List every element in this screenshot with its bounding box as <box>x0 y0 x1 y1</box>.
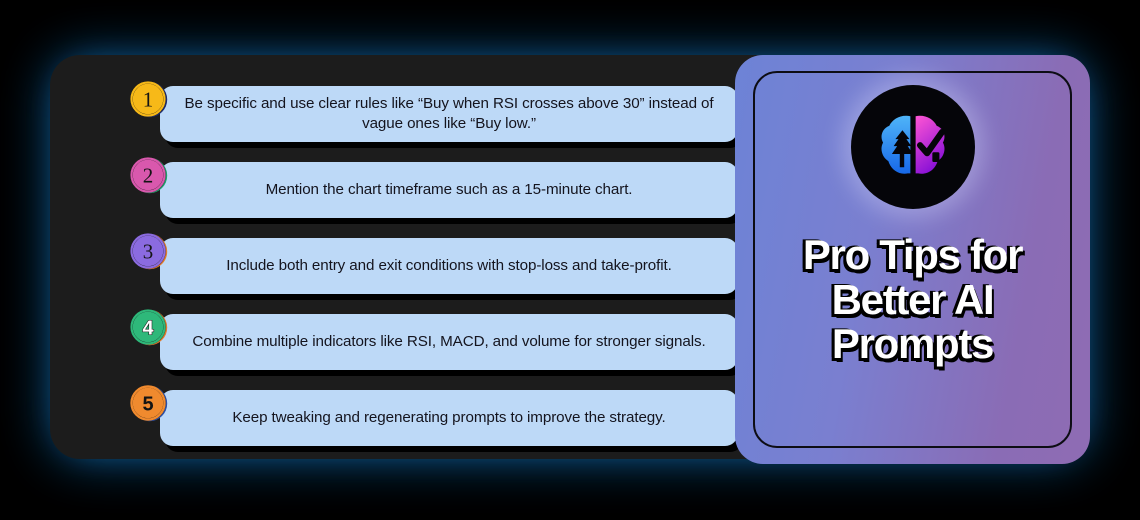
tip-bubble-2: Mention the chart timeframe such as a 15… <box>160 162 738 218</box>
tip-text: Include both entry and exit conditions w… <box>226 256 672 276</box>
tip-text: Be specific and use clear rules like “Bu… <box>176 94 722 134</box>
title-line-3: Prompts <box>749 322 1076 367</box>
list-item: 3 Include both entry and exit conditions… <box>50 235 790 297</box>
page-title: Pro Tips for Better AI Prompts <box>735 233 1090 367</box>
number-badge-3: 3 <box>128 231 168 271</box>
title-line-1: Pro Tips for <box>749 233 1076 278</box>
ai-brain-icon <box>869 103 957 191</box>
tip-text: Combine multiple indicators like RSI, MA… <box>192 332 705 352</box>
tips-list: 1 Be specific and use clear rules like “… <box>50 55 790 459</box>
number-badge-2: 2 <box>128 155 168 195</box>
list-item: 4 Combine multiple indicators like RSI, … <box>50 311 790 373</box>
tip-bubble-1: Be specific and use clear rules like “Bu… <box>160 86 738 142</box>
hero-panel: Pro Tips for Better AI Prompts <box>735 55 1090 464</box>
tip-text: Keep tweaking and regenerating prompts t… <box>232 408 665 428</box>
list-item: 1 Be specific and use clear rules like “… <box>50 83 790 145</box>
svg-text:3: 3 <box>143 240 154 264</box>
svg-text:5: 5 <box>142 394 153 416</box>
number-badge-1: 1 <box>128 79 168 119</box>
brain-icon-badge <box>851 85 975 209</box>
svg-text:1: 1 <box>143 88 154 112</box>
svg-text:2: 2 <box>143 164 154 188</box>
number-badge-4: 4 <box>128 307 168 347</box>
number-badge-5: 5 <box>128 383 168 423</box>
tip-bubble-4: Combine multiple indicators like RSI, MA… <box>160 314 738 370</box>
tip-bubble-3: Include both entry and exit conditions w… <box>160 238 738 294</box>
title-line-2: Better AI <box>749 278 1076 323</box>
tip-bubble-5: Keep tweaking and regenerating prompts t… <box>160 390 738 446</box>
svg-text:4: 4 <box>142 318 154 340</box>
tip-text: Mention the chart timeframe such as a 15… <box>266 180 633 200</box>
list-item: 5 Keep tweaking and regenerating prompts… <box>50 387 790 449</box>
list-item: 2 Mention the chart timeframe such as a … <box>50 159 790 221</box>
